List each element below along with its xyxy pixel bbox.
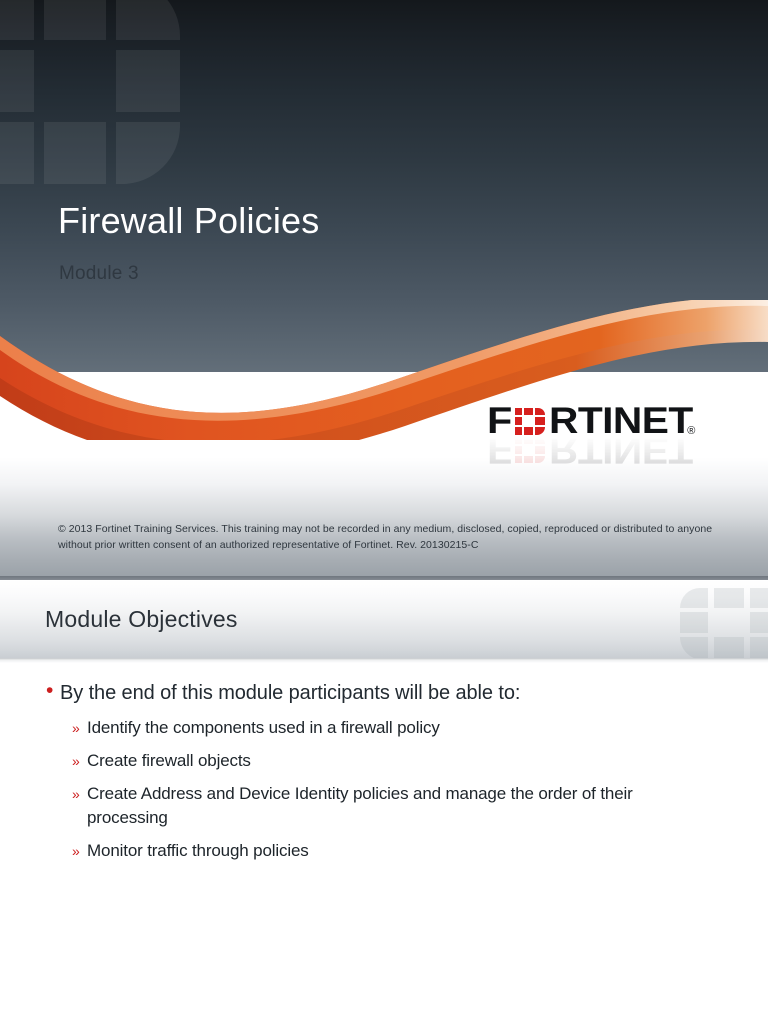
- list-item: » Create firewall objects: [0, 749, 768, 773]
- bullet-chevron-icon: »: [72, 839, 87, 863]
- title-slide: Firewall Policies Module 3: [0, 0, 768, 576]
- grid-block: [714, 637, 744, 658]
- grid-block: [0, 122, 34, 184]
- objectives-list: • By the end of this module participants…: [0, 680, 768, 872]
- bullet-chevron-icon: »: [72, 782, 87, 806]
- logo-grid-o-icon: [515, 408, 545, 435]
- grid-block: [0, 0, 34, 40]
- list-item-label: Create firewall objects: [87, 749, 251, 773]
- list-item-label: Create Address and Device Identity polic…: [87, 782, 686, 830]
- list-item: » Identify the components used in a fire…: [0, 716, 768, 740]
- header-drop-shadow: [0, 658, 768, 663]
- grid-block: [714, 588, 744, 608]
- grid-block: [750, 612, 768, 633]
- title-block: Firewall Policies Module 3: [58, 200, 698, 285]
- slide-header-bar: Module Objectives: [0, 580, 768, 658]
- objectives-slide: Module Objectives • By the end of this m…: [0, 576, 768, 1024]
- grid-block: [116, 122, 180, 184]
- list-item-label: Monitor traffic through policies: [87, 839, 309, 863]
- list-item-label: By the end of this module participants w…: [60, 680, 520, 706]
- page-subtitle: Module 3: [59, 263, 698, 285]
- grid-block: [44, 0, 106, 40]
- grid-block: [680, 588, 708, 608]
- list-item: • By the end of this module participants…: [0, 680, 768, 706]
- grid-block: [0, 50, 34, 112]
- bullet-chevron-icon: »: [72, 716, 87, 740]
- page-title: Firewall Policies: [58, 200, 698, 241]
- logo-wordmark: RTINET: [549, 404, 693, 438]
- logo-letter-f: F: [487, 404, 511, 438]
- grid-block: [680, 612, 708, 633]
- fortinet-logo: F RTINET ® F RTINET: [487, 404, 719, 468]
- list-item: » Create Address and Device Identity pol…: [0, 782, 768, 830]
- slide-heading: Module Objectives: [45, 606, 238, 633]
- logo-reflection: F RTINET: [487, 437, 719, 467]
- grid-block: [750, 588, 768, 608]
- grid-block: [750, 637, 768, 658]
- bullet-dot-icon: •: [46, 680, 60, 702]
- grid-block: [44, 122, 106, 184]
- list-item-label: Identify the components used in a firewa…: [87, 716, 440, 740]
- bullet-chevron-icon: »: [72, 749, 87, 773]
- decorative-block-grid: [0, 0, 234, 170]
- copyright-notice: © 2013 Fortinet Training Services. This …: [58, 521, 734, 553]
- slide-deck: Firewall Policies Module 3: [0, 0, 768, 1024]
- grid-block: [116, 50, 180, 112]
- list-item: » Monitor traffic through policies: [0, 839, 768, 863]
- header-decorative-grid: [680, 588, 768, 658]
- grid-block: [680, 637, 708, 658]
- grid-block: [116, 0, 180, 40]
